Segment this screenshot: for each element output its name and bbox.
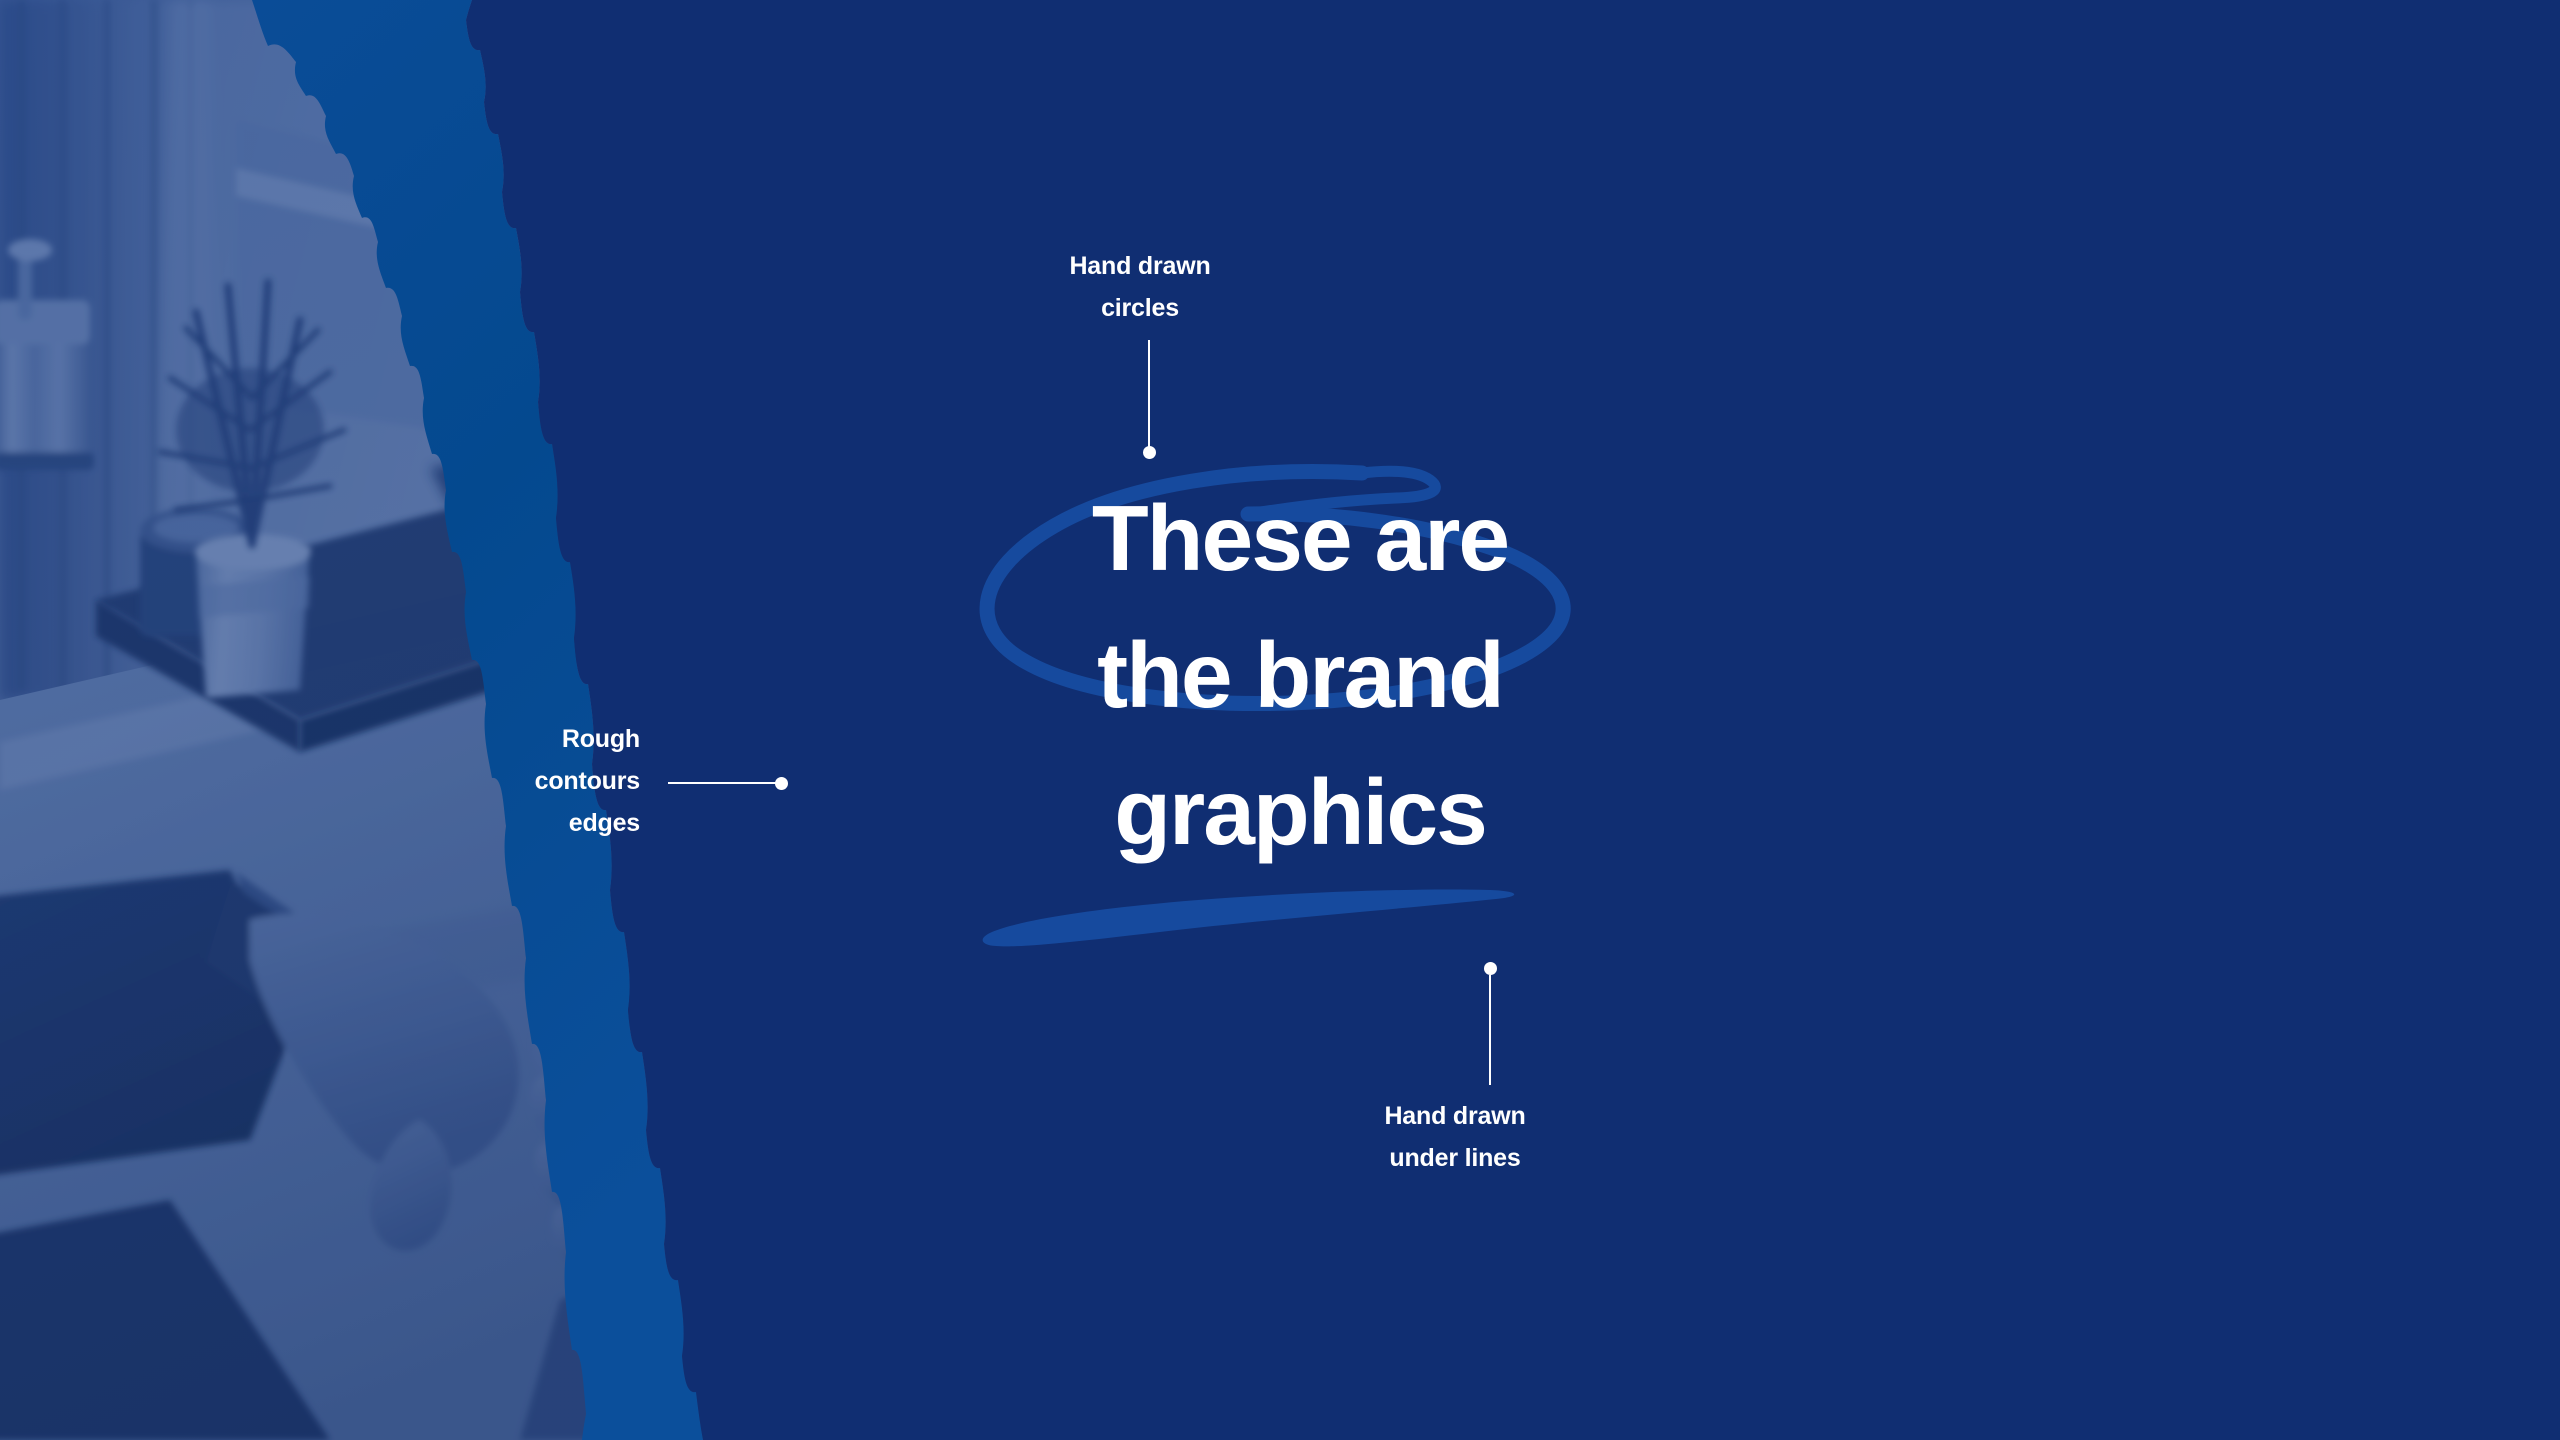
headline-line-2: the brand — [990, 607, 1610, 744]
leader-line-underlines — [1489, 975, 1491, 1085]
leader-dot-edges — [775, 777, 788, 790]
leader-line-edges — [668, 782, 780, 784]
slide-canvas: These are the brand graphics Hand drawn … — [0, 0, 2560, 1440]
leader-dot-underlines — [1484, 962, 1497, 975]
headline-line-1: These are — [990, 470, 1610, 607]
leader-dot-circles — [1143, 446, 1156, 459]
leader-line-circles — [1148, 340, 1150, 452]
headline-block: These are the brand graphics — [990, 470, 1610, 881]
annotation-hand-drawn-under-lines: Hand drawn under lines — [1265, 1095, 1645, 1179]
annotation-rough-contours-edges: Rough contours edges — [410, 718, 640, 844]
annotation-hand-drawn-circles: Hand drawn circles — [960, 245, 1320, 329]
headline-line-3: graphics — [990, 744, 1610, 881]
